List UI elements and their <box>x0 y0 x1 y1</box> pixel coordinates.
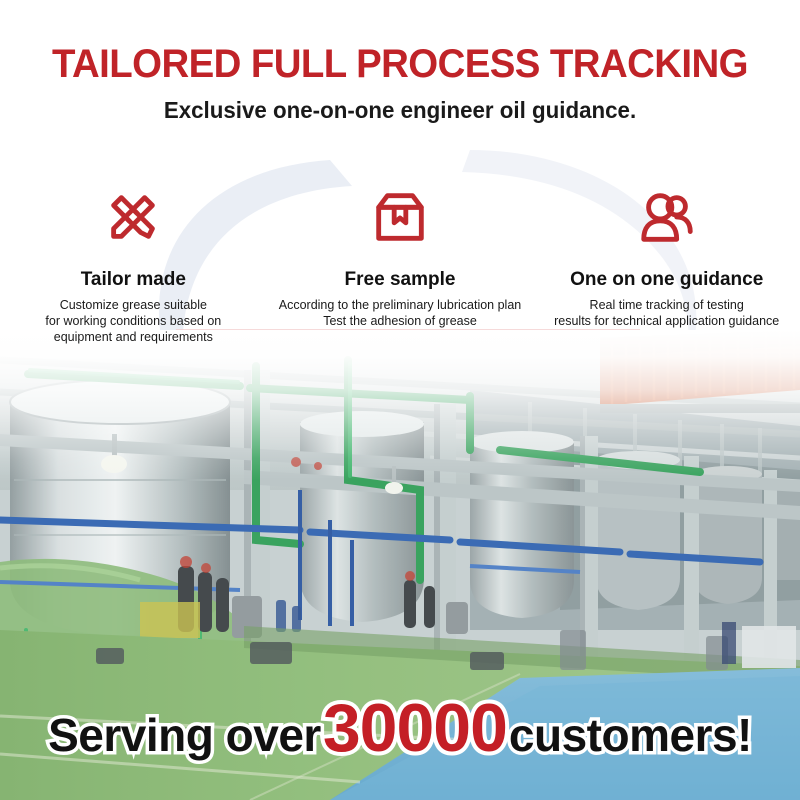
feature-desc-line: Customize grease suitable <box>6 297 261 313</box>
feature-free-sample: Free sample According to the preliminary… <box>267 186 534 345</box>
banner-number: 30000 <box>323 690 507 766</box>
feature-title: One on one guidance <box>539 270 794 289</box>
feature-desc-line: Test the adhesion of grease <box>273 313 528 329</box>
page-subtitle: Exclusive one-on-one engineer oil guidan… <box>12 99 788 122</box>
header-block: TAILORED FULL PROCESS TRACKING Exclusive… <box>0 44 800 122</box>
feature-title: Free sample <box>273 270 528 289</box>
package-box-icon <box>273 186 528 248</box>
poster-canvas: TAILORED FULL PROCESS TRACKING Exclusive… <box>0 0 800 800</box>
feature-title: Tailor made <box>6 270 261 289</box>
feature-desc-line: equipment and requirements <box>6 329 261 345</box>
banner-prefix: Serving over <box>48 709 321 761</box>
feature-desc-line: According to the preliminary lubrication… <box>273 297 528 313</box>
feature-one-on-one-guidance: One on one guidance Real time tracking o… <box>533 186 800 345</box>
feature-desc-line: Real time tracking of testing <box>539 297 794 313</box>
ruler-pencil-icon <box>6 186 261 248</box>
feature-tailor-made: Tailor made Customize grease suitable fo… <box>0 186 267 345</box>
feature-description: According to the preliminary lubrication… <box>273 297 528 329</box>
customers-banner: Serving over30000customers! <box>0 694 800 762</box>
two-people-icon <box>539 186 794 248</box>
photo-top-fade <box>0 330 800 480</box>
feature-description: Customize grease suitable for working co… <box>6 297 261 345</box>
feature-list: Tailor made Customize grease suitable fo… <box>0 186 800 345</box>
feature-desc-line: for working conditions based on <box>6 313 261 329</box>
feature-desc-line: results for technical application guidan… <box>539 313 794 329</box>
banner-suffix: customers! <box>509 709 752 761</box>
feature-description: Real time tracking of testing results fo… <box>539 297 794 329</box>
page-title: TAILORED FULL PROCESS TRACKING <box>16 44 784 84</box>
